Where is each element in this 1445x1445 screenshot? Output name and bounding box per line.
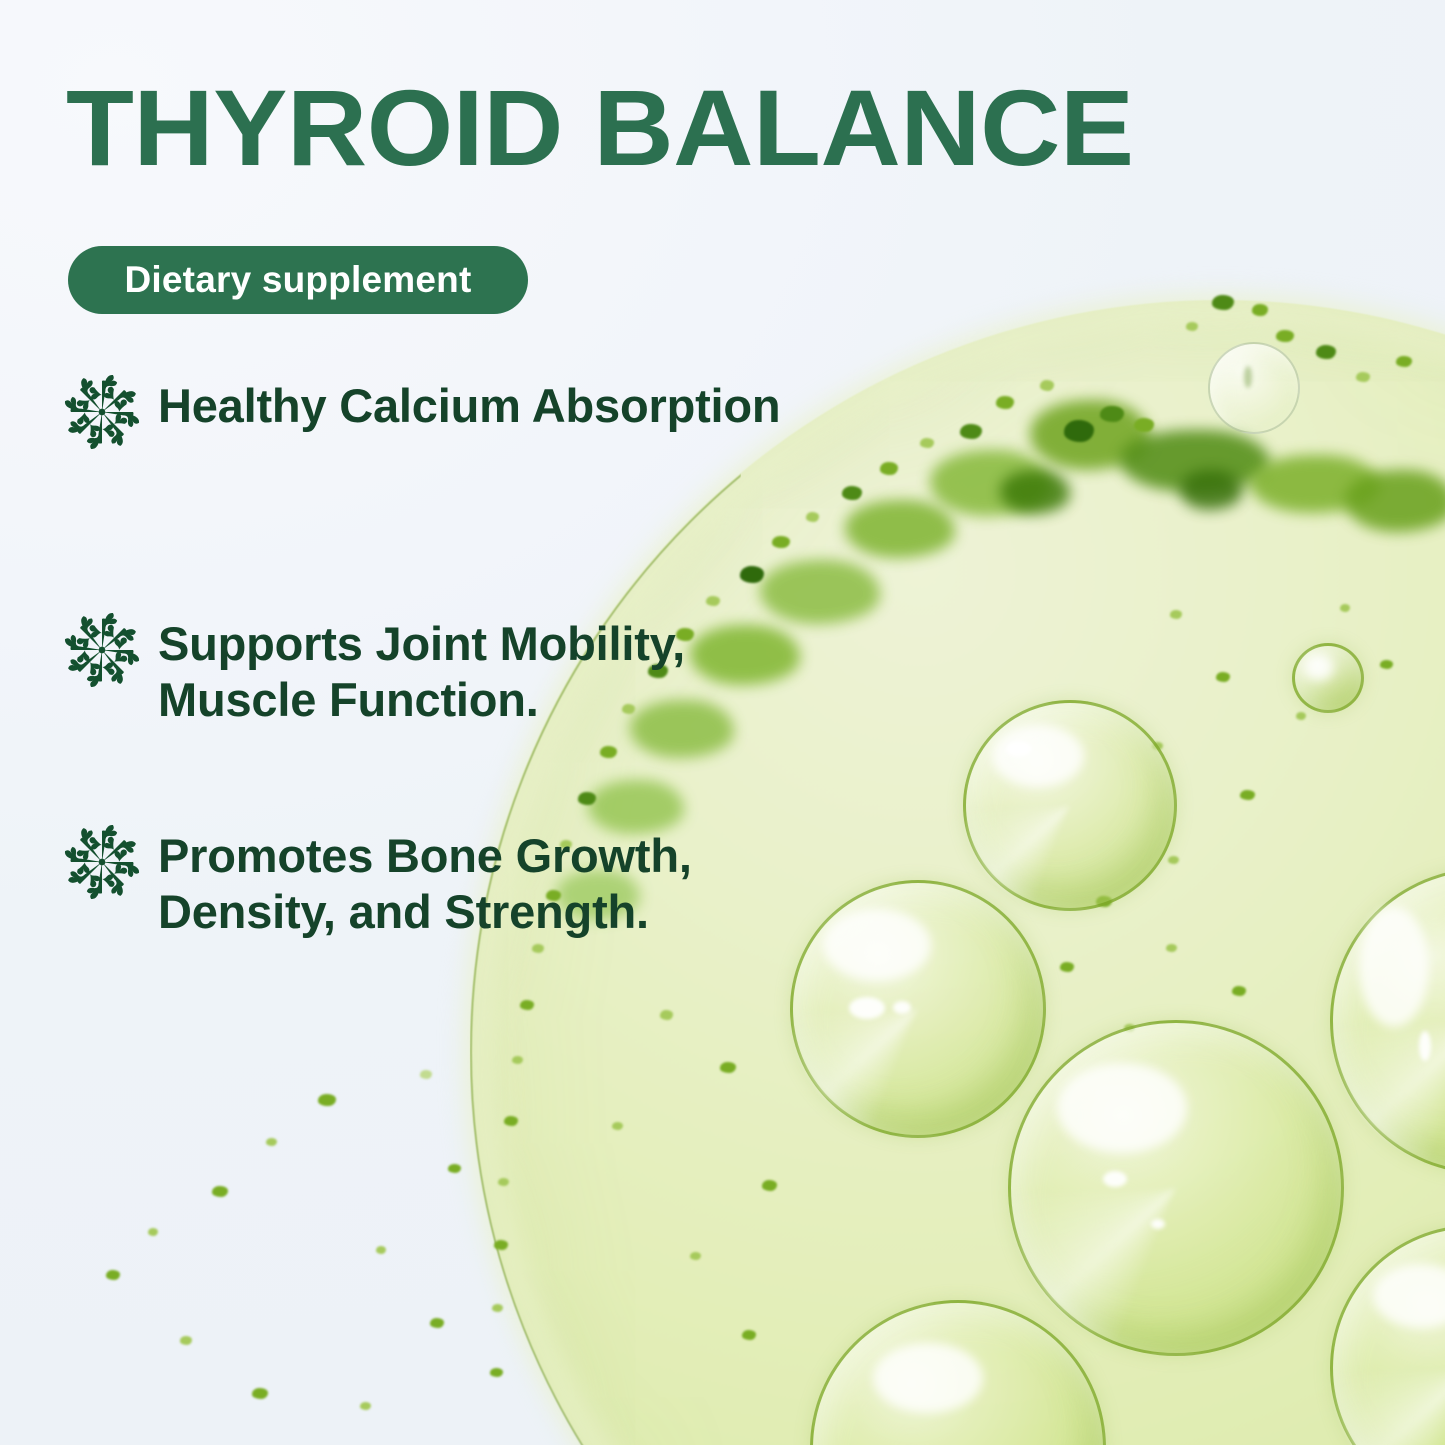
product-banner: THYROID BALANCE Dietary supplement	[0, 0, 1445, 1445]
list-item: Supports Joint Mobility, Muscle Function…	[60, 610, 820, 796]
snowflake-ornament-icon	[60, 608, 144, 692]
snowflake-ornament-icon	[60, 820, 144, 904]
status-badge: Dietary supplement	[68, 246, 528, 314]
benefits-list: Healthy Calcium Absorption	[60, 372, 820, 966]
list-item: Promotes Bone Growth, Density, and Stren…	[60, 822, 820, 940]
list-item-label: Supports Joint Mobility, Muscle Function…	[158, 610, 798, 728]
list-item-label: Promotes Bone Growth, Density, and Stren…	[158, 822, 798, 940]
list-item: Healthy Calcium Absorption	[60, 372, 820, 584]
list-item-label: Healthy Calcium Absorption	[158, 372, 780, 434]
badge-label: Dietary supplement	[125, 259, 472, 301]
snowflake-ornament-icon	[60, 370, 144, 454]
page-title: THYROID BALANCE	[66, 74, 1134, 182]
copy-overlay: THYROID BALANCE Dietary supplement	[0, 0, 1445, 1445]
